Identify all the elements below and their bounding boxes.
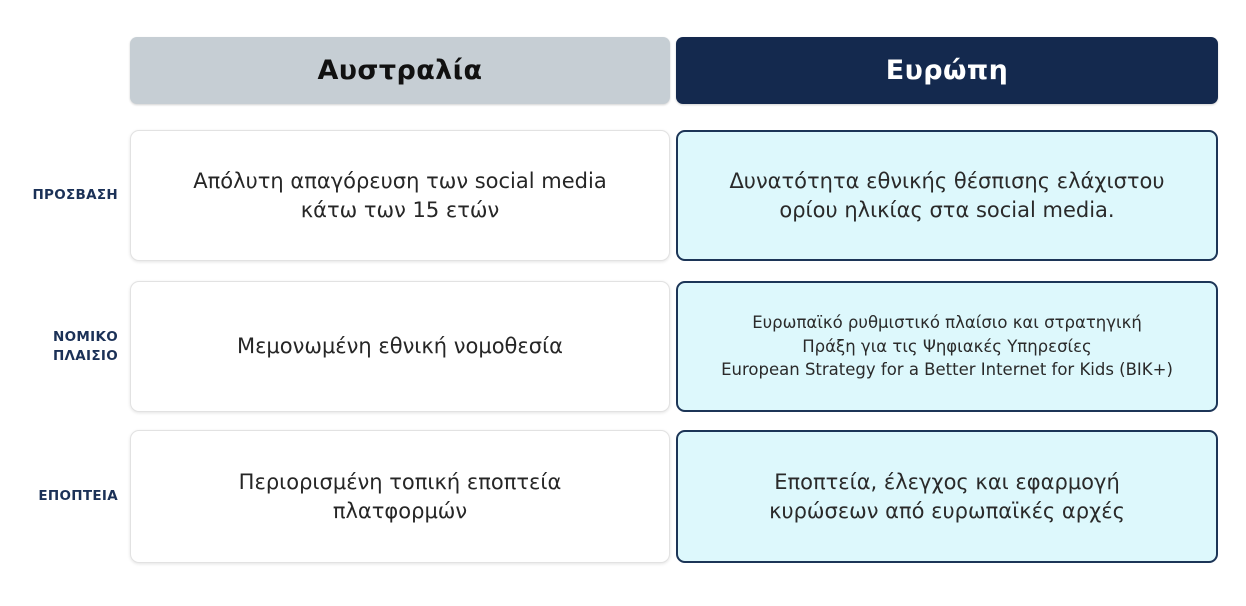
cell-europe-nomiko-plaisio: Ευρωπαϊκό ρυθμιστικό πλαίσιο και στρατηγ… xyxy=(676,281,1218,412)
comparison-table: Αυστραλία Ευρώπη ΠΡΟΣΒΑΣΗ Απόλυτη απαγόρ… xyxy=(0,0,1246,606)
column-header-europe-label: Ευρώπη xyxy=(886,55,1008,86)
cell-australia-prosvasi-text: Απόλυτη απαγόρευση των social media κάτω… xyxy=(193,167,606,223)
column-header-australia: Αυστραλία xyxy=(130,37,670,104)
cell-australia-nomiko-plaisio-text: Μεμονωμένη εθνική νομοθεσία xyxy=(237,332,563,360)
cell-europe-prosvasi-text: Δυνατότητα εθνικής θέσπισης ελάχιστου ορ… xyxy=(729,167,1164,223)
cell-europe-nomiko-plaisio-text: Ευρωπαϊκό ρυθμιστικό πλαίσιο και στρατηγ… xyxy=(721,311,1173,381)
cell-australia-prosvasi: Απόλυτη απαγόρευση των social media κάτω… xyxy=(130,130,670,261)
cell-australia-epopteia: Περιορισμένη τοπική εποπτεία πλατφορμών xyxy=(130,430,670,563)
row-label-prosvasi: ΠΡΟΣΒΑΣΗ xyxy=(0,130,130,261)
column-header-europe: Ευρώπη xyxy=(676,37,1218,104)
cell-australia-epopteia-text: Περιορισμένη τοπική εποπτεία πλατφορμών xyxy=(239,468,562,524)
cell-australia-nomiko-plaisio: Μεμονωμένη εθνική νομοθεσία xyxy=(130,281,670,412)
row-label-epopteia: ΕΠΟΠΤΕΙΑ xyxy=(0,430,130,563)
cell-europe-epopteia: Εποπτεία, έλεγχος και εφαρμογή κυρώσεων … xyxy=(676,430,1218,563)
cell-europe-epopteia-text: Εποπτεία, έλεγχος και εφαρμογή κυρώσεων … xyxy=(769,468,1125,524)
column-header-australia-label: Αυστραλία xyxy=(317,55,482,86)
comparison-grid: Αυστραλία Ευρώπη ΠΡΟΣΒΑΣΗ Απόλυτη απαγόρ… xyxy=(0,0,1246,606)
cell-europe-prosvasi: Δυνατότητα εθνικής θέσπισης ελάχιστου ορ… xyxy=(676,130,1218,261)
row-label-nomiko-plaisio: ΝΟΜΙΚΟ ΠΛΑΙΣΙΟ xyxy=(0,281,130,412)
